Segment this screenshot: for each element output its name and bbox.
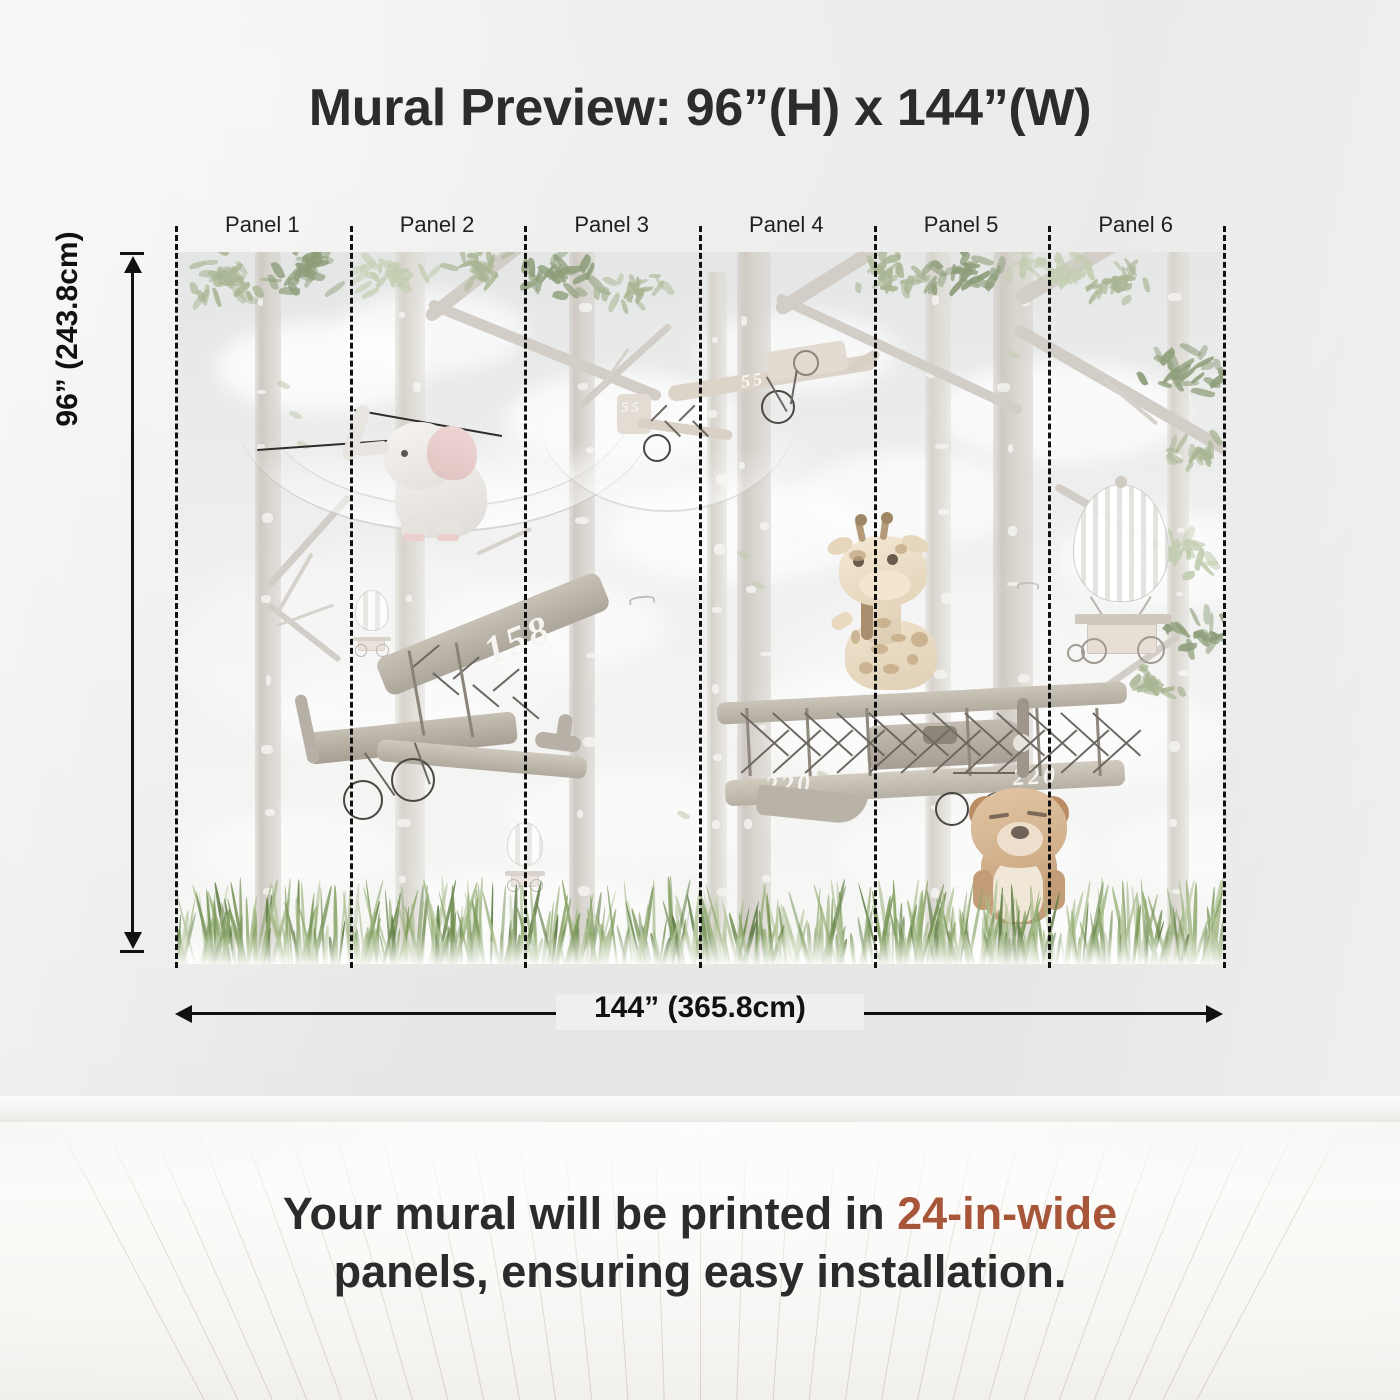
elephant-eye — [401, 450, 408, 457]
giraffe-muzzle — [859, 570, 911, 600]
giraffe-spot — [907, 654, 918, 665]
hot-air-balloon — [1057, 484, 1187, 654]
panel-label-2: Panel 2 — [350, 212, 525, 244]
caption-line2: panels, ensuring easy installation. — [334, 1246, 1067, 1297]
scene-objects-layer: 1585555220220 — [177, 252, 1223, 964]
wall-baseboard — [0, 1096, 1400, 1122]
biplane-220-axle — [953, 772, 1015, 774]
biplane-small-wheel — [643, 434, 671, 462]
panel-label-4: Panel 4 — [699, 212, 874, 244]
elephant-toes — [403, 534, 425, 541]
mural-artwork: 1585555220220 — [177, 252, 1223, 964]
small-balloon-left-wheel-2 — [376, 644, 389, 657]
giraffe-spot — [883, 664, 899, 674]
panel-label-6: Panel 6 — [1048, 212, 1223, 244]
elephant — [357, 400, 497, 550]
ground-haze — [177, 934, 1223, 964]
caption-accent: 24-in-wide — [897, 1188, 1117, 1239]
bird-icon-2 — [1017, 582, 1039, 589]
caption: Your mural will be printed in 24-in-wide… — [100, 1185, 1300, 1300]
giraffe-spot — [911, 632, 928, 647]
balloon-wheel-3 — [1067, 644, 1085, 662]
panel-label-row: Panel 1 Panel 2 Panel 3 Panel 4 Panel 5 … — [175, 212, 1223, 244]
bird-icon — [629, 595, 656, 606]
biplane-small-number: 55 — [621, 400, 642, 417]
giraffe-eye-2 — [887, 554, 898, 565]
small-balloon-mid-envelope — [507, 822, 543, 866]
small-balloon-left-wheel — [355, 644, 368, 657]
panel-label-1: Panel 1 — [175, 212, 350, 244]
small-balloon-left — [351, 590, 396, 653]
mural-preview: 1585555220220 — [177, 252, 1223, 964]
biplane-small-truss — [678, 405, 695, 422]
panel-label-5: Panel 5 — [874, 212, 1049, 244]
giraffe-spot — [851, 630, 860, 644]
balloon-wheel-2 — [1137, 636, 1165, 664]
biplane-small: 55 — [617, 372, 747, 482]
biplane-158: 158 — [287, 602, 617, 832]
giraffe-spot — [875, 618, 891, 628]
biplane-158-propeller — [294, 694, 320, 765]
giraffe-ossicone-tip-2 — [881, 512, 893, 524]
giraffe-nostril — [871, 578, 877, 582]
biplane-158-truss — [513, 696, 540, 719]
page-title: Mural Preview: 96”(H) x 144”(W) — [0, 78, 1400, 138]
balloon-top-cap — [1115, 476, 1127, 488]
small-balloon-left-envelope — [355, 590, 389, 631]
giraffe-ossicone-tip — [855, 514, 867, 526]
grass-layer — [177, 868, 1223, 964]
giraffe — [825, 522, 945, 692]
elephant-toes-2 — [437, 534, 459, 541]
bear-nose — [1011, 826, 1029, 839]
giraffe-spot — [871, 644, 888, 654]
panel-label-3: Panel 3 — [524, 212, 699, 244]
biplane-158-wheel — [343, 780, 383, 820]
caption-line1-before: Your mural will be printed in — [283, 1188, 897, 1239]
balloon-carriage-roof — [1075, 614, 1171, 624]
giraffe-arm — [829, 609, 855, 632]
width-dimension-label: 144” (365.8cm) — [0, 991, 1400, 1025]
elephant-ear — [427, 426, 477, 480]
balloon-envelope — [1073, 484, 1169, 602]
biplane-small-truss — [650, 405, 667, 422]
height-dimension-label: 96” (243.8cm) — [51, 199, 85, 459]
